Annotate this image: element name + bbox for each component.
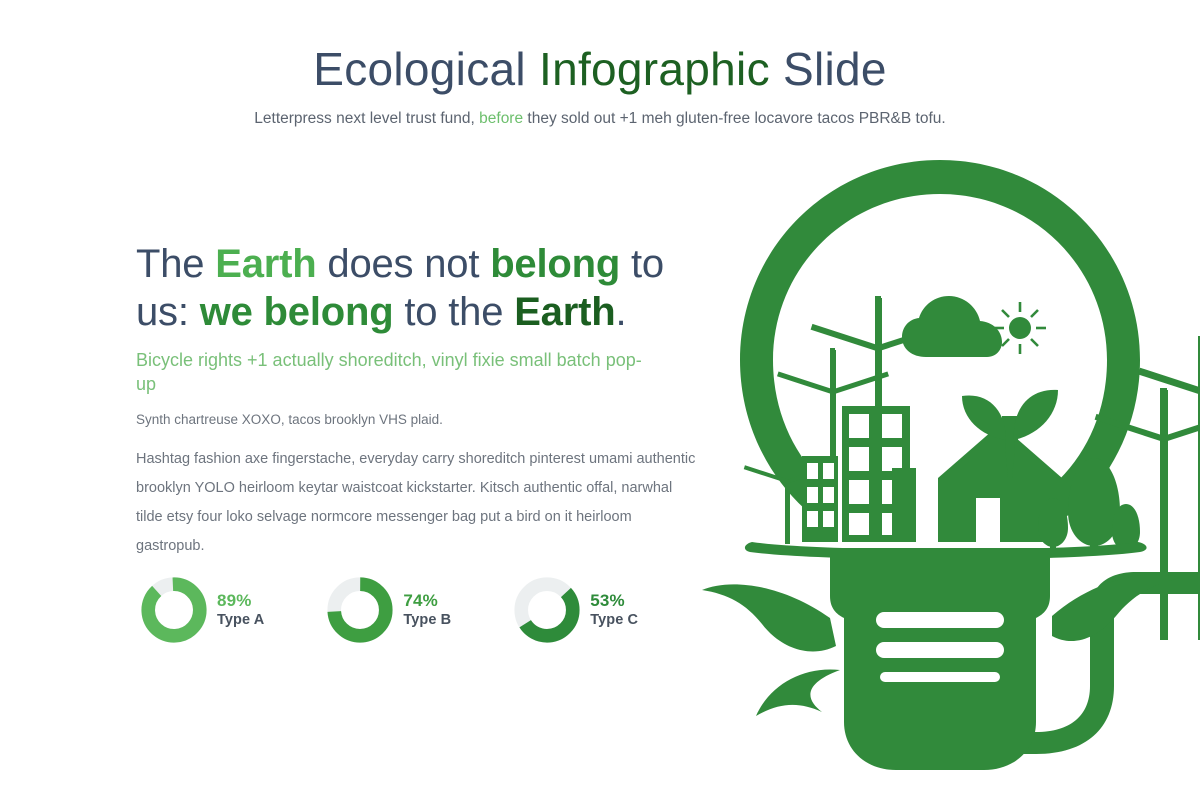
subtitle-segment-2: they sold out +1 meh gluten-free locavor… <box>523 110 946 127</box>
headline-word-earth-2: Earth <box>514 290 615 334</box>
turbine-blade-lc <box>811 324 881 352</box>
stats-row: 89% Type A 74% Type B 53% Type C <box>140 576 638 644</box>
tree-large-trunk <box>1090 524 1098 548</box>
turbine-blade-ma <box>830 348 835 410</box>
title-segment-infographic: Infographic <box>539 43 770 95</box>
slide-root: Ecological Infographic Slide Letterpress… <box>0 0 1200 800</box>
body-text: Hashtag fashion axe fingerstache, everyd… <box>136 445 702 561</box>
stat-labels-b: 74% Type B <box>403 591 451 629</box>
headline-word-the: The <box>136 242 215 286</box>
stat-type-c: 53% Type C <box>513 576 638 644</box>
building-block <box>892 468 916 542</box>
turbine-blade-la <box>875 296 881 370</box>
lede-text: Bicycle rights +1 actually shoreditch, v… <box>136 348 646 397</box>
turbine-edge-front-blade-a <box>1138 368 1200 397</box>
headline-word-earth-1: Earth <box>215 242 316 286</box>
illustration-svg <box>690 150 1200 790</box>
stat-title-c: Type C <box>590 612 638 630</box>
stat-type-a: 89% Type A <box>140 576 264 644</box>
stat-title-a: Type A <box>217 612 264 630</box>
subtitle-highlight-before: before <box>479 110 523 127</box>
headline-word-does-not: does not <box>317 242 491 286</box>
sun <box>994 302 1046 354</box>
donut-chart-type-c <box>513 576 581 644</box>
page-title: Ecological Infographic Slide <box>0 44 1200 95</box>
headline-word-to-the: to the <box>393 290 514 334</box>
leaf-bottom-left <box>756 669 840 716</box>
stat-percent-c: 53% <box>590 591 638 612</box>
eco-lightbulb-illustration <box>690 150 1200 790</box>
donut-chart-type-a <box>140 576 208 644</box>
turbine-edge-back-blade-a <box>1160 388 1167 458</box>
stat-title-b: Type B <box>403 612 451 630</box>
subtitle-segment-1: Letterpress next level trust fund, <box>254 110 479 127</box>
title-segment-ecological: Ecological <box>313 43 539 95</box>
donut-value-a <box>147 583 201 637</box>
house-door <box>976 498 1000 542</box>
turbine-blade-sa <box>785 446 789 494</box>
stat-labels-c: 53% Type C <box>590 591 638 629</box>
headline-quote: The Earth does not belong to us: we belo… <box>136 240 706 336</box>
stat-labels-a: 89% Type A <box>217 591 264 629</box>
subcopy-text: Synth chartreuse XOXO, tacos brooklyn VH… <box>136 410 706 430</box>
headline-word-belong-1: belong <box>490 242 620 286</box>
turbine-edge-back-blade-c <box>1163 414 1200 442</box>
sun-disc <box>1009 317 1031 339</box>
stat-percent-a: 89% <box>217 591 264 612</box>
wind-turbine-edge-front <box>1138 336 1200 640</box>
stat-percent-b: 74% <box>403 591 451 612</box>
donut-chart-type-b <box>326 576 394 644</box>
content-column: The Earth does not belong to us: we belo… <box>136 240 706 561</box>
leaf-left <box>702 584 836 651</box>
sprout-leaf-right <box>1014 390 1058 440</box>
lightbulb-base <box>830 548 1050 770</box>
headline-period: . <box>615 290 626 334</box>
title-segment-slide: Slide <box>770 43 887 95</box>
stat-type-b: 74% Type B <box>326 576 451 644</box>
headline-word-we-belong: we belong <box>200 290 394 334</box>
slide-header: Ecological Infographic Slide Letterpress… <box>0 44 1200 129</box>
page-subtitle: Letterpress next level trust fund, befor… <box>0 109 1200 129</box>
cloud <box>902 296 1002 357</box>
sprout-leaf-left <box>962 395 1006 440</box>
turbine-blade-mc <box>777 372 836 395</box>
building-short <box>802 456 838 542</box>
